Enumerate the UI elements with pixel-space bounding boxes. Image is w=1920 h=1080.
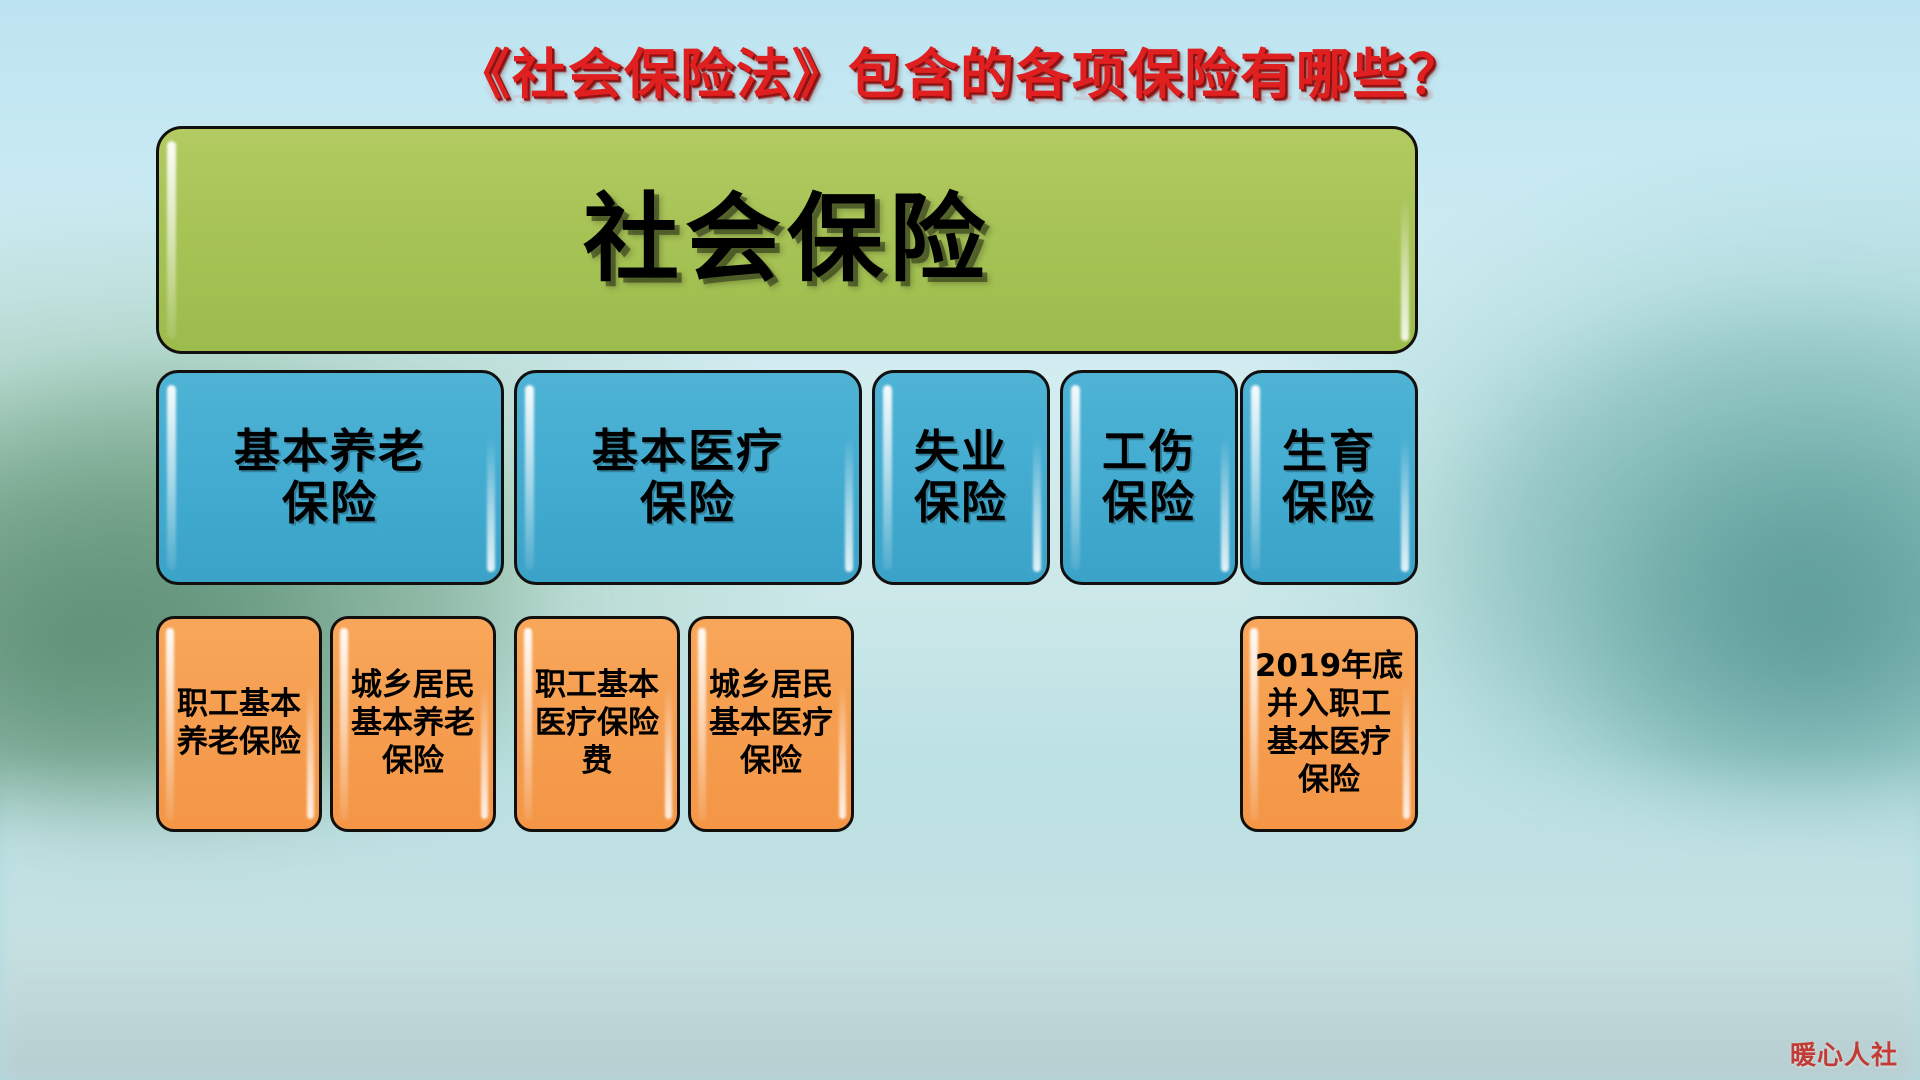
node-basic-pension-insurance[interactable]: 基本养老保险 [156, 370, 504, 585]
node-social-insurance-root[interactable]: 社会保险 [156, 126, 1418, 354]
subnode-urban-rural-resident-basic-medical[interactable]: 城乡居民基本医疗保险 [688, 616, 854, 832]
subnode-label: 城乡居民基本医疗保险 [709, 667, 833, 780]
subnode-merged-into-employee-basic-medical[interactable]: 2019年底并入职工基本医疗保险 [1240, 616, 1418, 832]
subnode-label: 城乡居民基本养老保险 [351, 667, 475, 780]
background-water-shine [0, 930, 1920, 1080]
subnode-label: 职工基本医疗保险费 [535, 667, 659, 780]
watermark-logo: 暖心人社 [1790, 1035, 1898, 1072]
node-label: 社会保险 [583, 186, 991, 294]
node-work-injury-insurance[interactable]: 工伤保险 [1060, 370, 1238, 585]
node-label: 失业保险 [914, 427, 1008, 528]
node-maternity-insurance[interactable]: 生育保险 [1240, 370, 1418, 585]
subnode-label: 职工基本养老保险 [177, 686, 301, 762]
node-basic-medical-insurance[interactable]: 基本医疗保险 [514, 370, 862, 585]
node-label: 基本医疗保险 [592, 426, 784, 529]
subnode-label: 2019年底并入职工基本医疗保险 [1255, 648, 1403, 799]
slide-canvas: 《社会保险法》包含的各项保险有哪些？ 《社会保险法》包含的各项保险有哪些？ 社会… [0, 0, 1920, 1080]
node-label: 工伤保险 [1102, 427, 1196, 528]
subnode-employee-basic-pension[interactable]: 职工基本养老保险 [156, 616, 322, 832]
subnode-employee-basic-medical-fee[interactable]: 职工基本医疗保险费 [514, 616, 680, 832]
node-label: 生育保险 [1282, 427, 1376, 528]
node-unemployment-insurance[interactable]: 失业保险 [872, 370, 1050, 585]
subnode-urban-rural-resident-basic-pension[interactable]: 城乡居民基本养老保险 [330, 616, 496, 832]
node-label: 基本养老保险 [234, 426, 426, 529]
